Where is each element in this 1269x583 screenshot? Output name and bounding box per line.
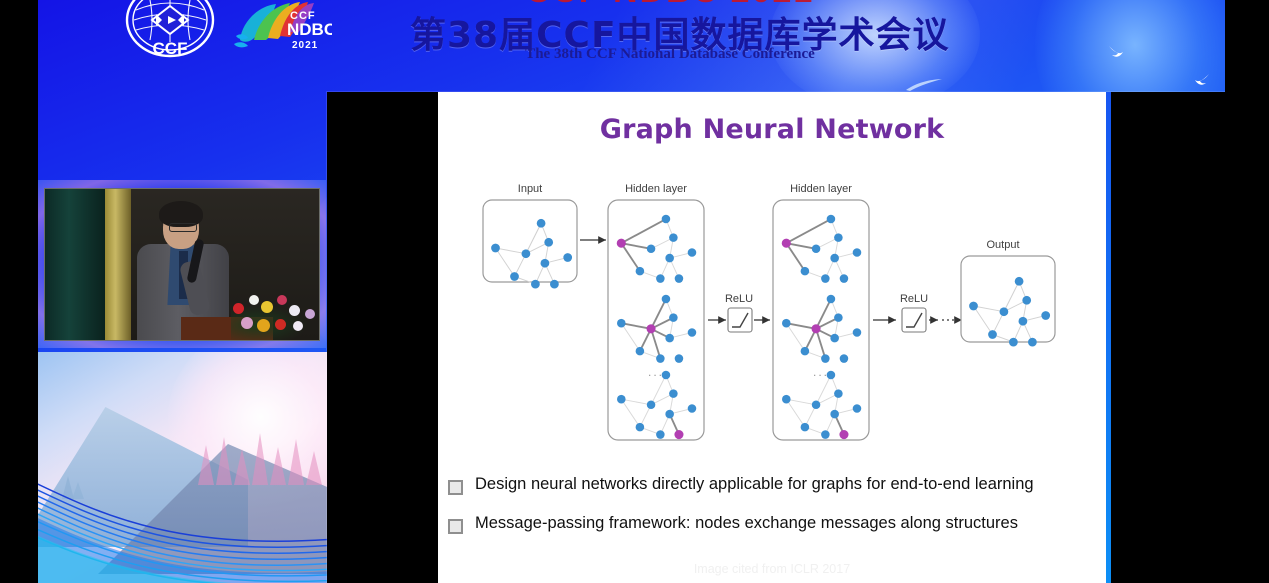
presentation-slide: Graph Neural Network	[438, 92, 1106, 583]
speaker-video	[44, 188, 320, 341]
diagram-label-input: Input	[518, 183, 542, 195]
square-bullet-icon	[448, 519, 463, 534]
diagram-ellipsis: ...	[648, 365, 664, 379]
bird-icon	[905, 78, 943, 92]
ndbc-logo: CCF NDBC 2021	[232, 0, 332, 52]
slide-title: Graph Neural Network	[438, 114, 1106, 145]
ndbc-logo-year: 2021	[292, 40, 318, 51]
square-bullet-icon	[448, 480, 463, 495]
bullet-list: Design neural networks directly applicab…	[448, 474, 1096, 552]
diagram-label-relu-1: ReLU	[725, 293, 753, 305]
ccf-logo-label: CCF	[153, 39, 188, 58]
diagram-label-hidden-1: Hidden layer	[625, 183, 687, 195]
gnn-diagram: Input Hidden layer	[438, 180, 1106, 462]
bullet-text: Design neural networks directly applicab…	[475, 474, 1034, 495]
curtain-gold	[105, 189, 131, 340]
banner-title-en: The 38th CCF National Database Conferenc…	[410, 46, 930, 63]
list-item: Message-passing framework: nodes exchang…	[448, 513, 1096, 534]
diagram-ellipsis: ...	[813, 365, 829, 379]
letterbox-right	[1225, 0, 1269, 583]
letterbox-left	[0, 0, 38, 583]
speaker-glasses	[169, 223, 197, 232]
diagram-label-output: Output	[986, 239, 1019, 251]
bullet-text: Message-passing framework: nodes exchang…	[475, 513, 1018, 534]
diagram-label-hidden-2: Hidden layer	[790, 183, 852, 195]
curtain-left	[45, 189, 105, 340]
scenery-graphic	[38, 352, 328, 583]
diagram-label-relu-2: ReLU	[900, 293, 928, 305]
list-item: Design neural networks directly applicab…	[448, 474, 1096, 495]
screen: CCF CCF NDBC 2021 CCF NDBC 2021 第38届CCF中…	[0, 0, 1269, 583]
ndbc-logo-name: NDBC	[287, 20, 332, 39]
image-credit: Image cited from ICLR 2017	[438, 562, 1106, 576]
wave-lines	[38, 467, 328, 583]
background-sliver	[1106, 92, 1111, 583]
bird-icon	[1180, 72, 1210, 88]
flower-bouquet	[227, 289, 320, 341]
ccf-logo: CCF	[124, 0, 216, 68]
bird-icon	[1108, 44, 1138, 60]
